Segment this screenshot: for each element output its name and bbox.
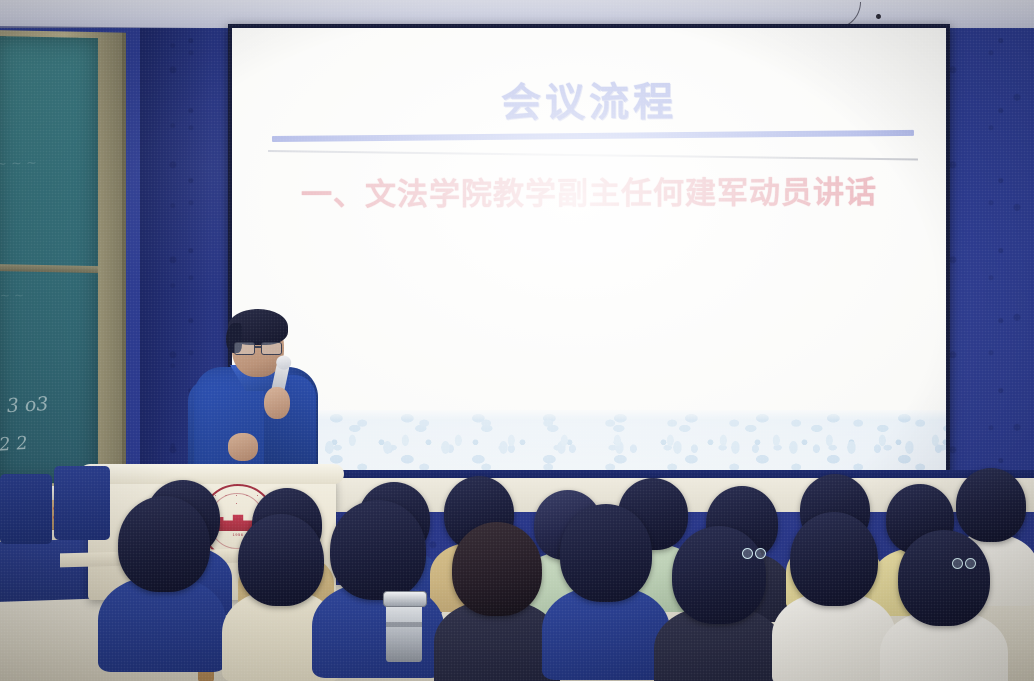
chalk-note: ~ ~ ~: [0, 156, 37, 172]
chair-back: [0, 474, 52, 544]
audience-member-head: [330, 500, 426, 600]
audience-member-head: [956, 468, 1026, 542]
audience-member-head: [452, 522, 542, 616]
chalk-note: ~ ~: [0, 288, 24, 302]
thermos-cap: [383, 591, 427, 607]
slide-divider-thick: [272, 130, 914, 142]
slide-bullet-item-1: 一、文法学院教学副主任何建军动员讲话: [232, 166, 946, 214]
speaker-hair: [228, 309, 288, 345]
chalkboard-frame: ~ ~ ~ ~ ~ x 3 o3 5 2 2: [0, 30, 126, 491]
audience-glasses-icon: [742, 548, 764, 557]
slide-title: 会议流程: [232, 68, 946, 130]
projection-screen: 会议流程 一、文法学院教学副主任何建军动员讲话: [232, 28, 946, 482]
slide-divider-thin: [268, 150, 918, 161]
audience-member-head: [238, 514, 324, 606]
chalkboard-divider: [0, 264, 98, 273]
audience: [0, 430, 1034, 681]
lecture-hall-photo: ~ ~ ~ ~ ~ x 3 o3 5 2 2 会议流程 一、文法学院教学副主任何…: [0, 0, 1034, 681]
audience-glasses-icon: [952, 558, 974, 567]
thermos-flask: [386, 600, 422, 662]
audience-member-head: [790, 512, 878, 606]
audience-member-head: [898, 530, 990, 626]
slide-band-highlight: [232, 410, 946, 420]
chalkboard: ~ ~ ~ ~ ~ x 3 o3 5 2 2: [0, 36, 98, 484]
audience-member-head: [118, 496, 210, 592]
chalk-note: x 3 o3: [0, 393, 49, 418]
projection-screen-frame: 会议流程 一、文法学院教学副主任何建军动员讲话: [228, 24, 950, 486]
audience-member-head: [560, 504, 652, 602]
speaker-right-hand: [264, 387, 290, 419]
thermos-band: [386, 622, 422, 627]
chair-back: [54, 466, 110, 540]
audience-member-head: [672, 526, 766, 624]
speaker-glasses-icon: [233, 342, 283, 353]
ceiling-fixture-dot: [876, 14, 881, 19]
